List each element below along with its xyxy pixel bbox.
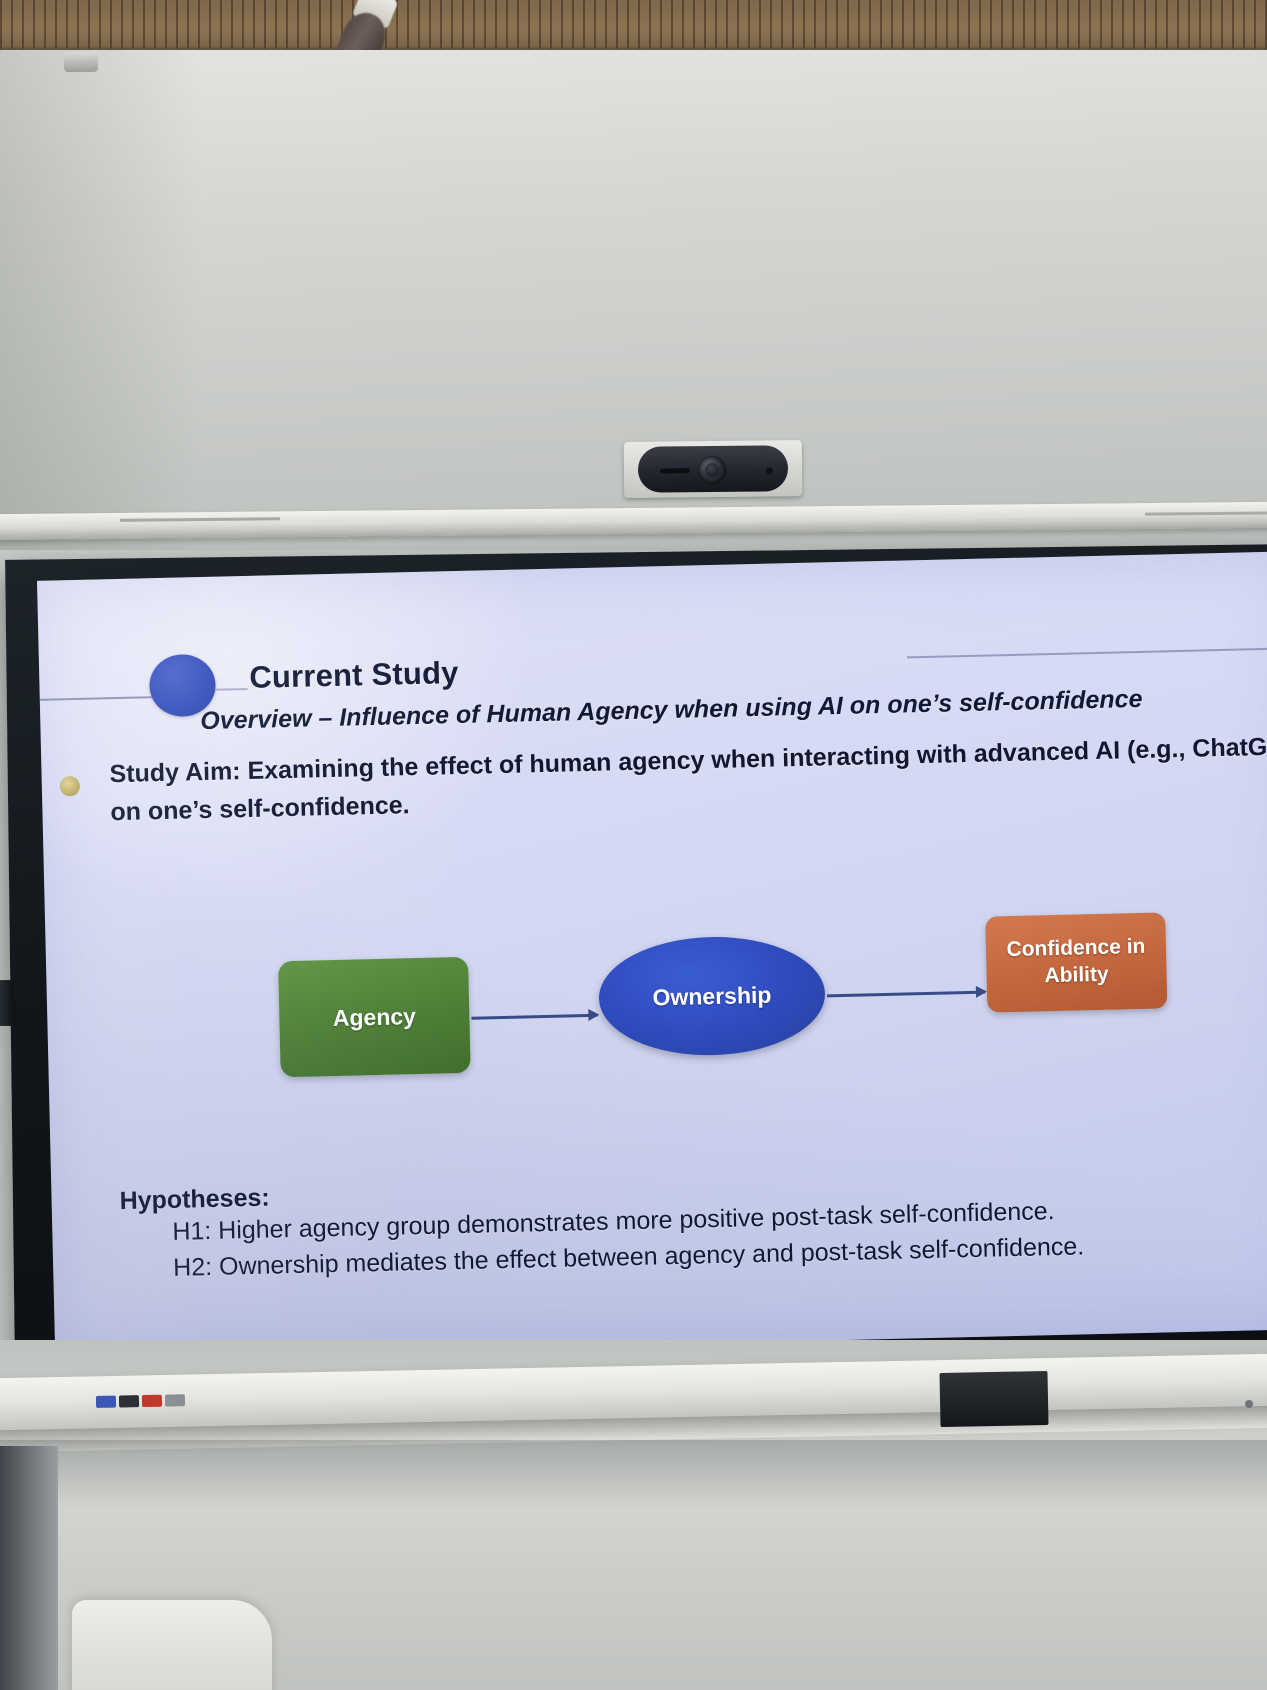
- diagram-node-agency[interactable]: Agency: [278, 957, 471, 1077]
- webcam: [624, 440, 803, 498]
- webcam-body: [638, 445, 788, 493]
- diagram-node-confidence-label-line2: Ability: [1044, 962, 1109, 990]
- study-aim-body: Examining the effect of human agency whe…: [110, 732, 1267, 826]
- diagram-arrow-ownership-to-confidence: [827, 991, 985, 998]
- mediation-diagram: Agency Ownership Confidence in Ability: [45, 899, 1267, 1139]
- ceiling-slat-texture: [0, 0, 1267, 54]
- title-rule-right: [907, 647, 1267, 658]
- webcam-indicator-icon: [766, 467, 773, 474]
- page-title: Current Study: [249, 655, 459, 696]
- webcam-clip: [64, 52, 98, 72]
- webcam-privacy-slider-icon: [660, 468, 690, 473]
- foreground-object: [72, 1600, 272, 1690]
- tray-mount-bracket: [939, 1371, 1048, 1427]
- marker-pens: [96, 1391, 196, 1411]
- wall-bottom-shadow: [0, 1440, 1267, 1510]
- display-side-port: [0, 980, 14, 1026]
- marker-red-icon: [142, 1395, 162, 1407]
- tray-screw: [1245, 1400, 1253, 1408]
- study-aim-paragraph: Study Aim: Examining the effect of human…: [109, 727, 1267, 831]
- wall-shadow: [0, 50, 200, 550]
- left-wall-edge: [0, 1446, 58, 1690]
- study-aim-label: Study Aim:: [109, 757, 241, 788]
- diagram-node-ownership[interactable]: Ownership: [598, 934, 827, 1057]
- ceiling-slats: [0, 0, 1267, 54]
- hypotheses-block: Hypotheses: H1: Higher agency group demo…: [119, 1159, 1267, 1287]
- title-rule-left: [37, 696, 152, 701]
- diagram-node-ownership-label: Ownership: [652, 981, 771, 1011]
- diagram-node-agency-label: Agency: [333, 1003, 417, 1032]
- webcam-lens-icon: [698, 456, 726, 484]
- room-photo: Current Study Overview – Influence of Hu…: [0, 0, 1267, 1690]
- marker-black-icon: [119, 1395, 139, 1407]
- diagram-node-confidence-label-line1: Confidence in: [1006, 934, 1145, 964]
- presentation-slide[interactable]: Current Study Overview – Influence of Hu…: [37, 551, 1267, 1358]
- diagram-node-confidence[interactable]: Confidence in Ability: [985, 912, 1167, 1012]
- title-rule-mid: [214, 688, 248, 691]
- diagram-arrow-agency-to-ownership: [471, 1014, 597, 1020]
- marker-blue-icon: [96, 1396, 116, 1408]
- marker-eraser-icon: [165, 1394, 185, 1406]
- screen-glare: [37, 551, 545, 923]
- study-aim-bullet-icon: [60, 776, 80, 796]
